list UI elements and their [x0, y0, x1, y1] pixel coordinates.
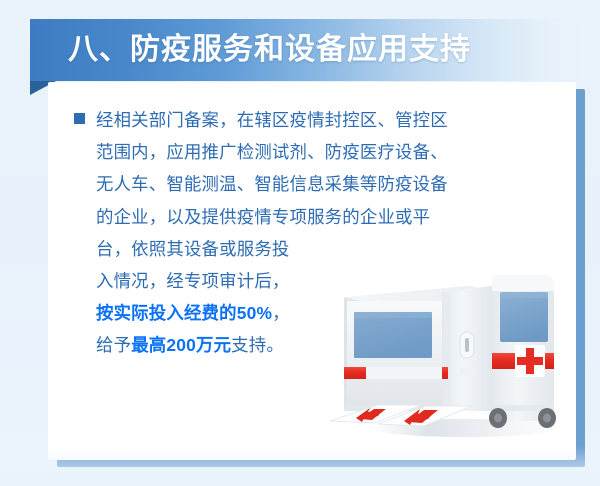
- bullet-square-icon: [74, 113, 85, 124]
- highlight-amount: 最高200万元: [131, 335, 231, 355]
- emphasis-2-trailing: 支持。: [231, 335, 284, 355]
- text-line-6: 入情况，经专项审计后，: [96, 265, 544, 297]
- text-line-5: 台，依照其设备或服务投: [96, 233, 544, 265]
- page-title: 八、防疫服务和设备应用支持: [68, 19, 471, 81]
- header-banner: 八、防疫服务和设备应用支持: [30, 19, 585, 81]
- text-line-2: 范围内，应用推广检测试剂、防疫医疗设备、: [96, 136, 544, 168]
- text-line-7: 按实际投入经费的50%，: [96, 297, 544, 329]
- emphasis-1-trailing: ，: [272, 303, 290, 323]
- content-card: 经相关部门备案，在辖区疫情封控区、管控区 范围内，应用推广检测试剂、防疫医疗设备…: [48, 82, 576, 460]
- text-line-1: 经相关部门备案，在辖区疫情封控区、管控区: [96, 104, 544, 136]
- policy-paragraph: 经相关部门备案，在辖区疫情封控区、管控区 范围内，应用推广检测试剂、防疫医疗设备…: [74, 104, 544, 362]
- poster-root: 八、防疫服务和设备应用支持: [0, 0, 600, 486]
- text-line-4: 的企业，以及提供疫情专项服务的企业或平: [96, 201, 544, 233]
- body-text-block: 经相关部门备案，在辖区疫情封控区、管控区 范围内，应用推广检测试剂、防疫医疗设备…: [74, 104, 544, 362]
- emphasis-2-leading: 给予: [96, 335, 131, 355]
- highlight-percentage: 按实际投入经费的50%: [96, 303, 272, 323]
- text-line-8: 给予最高200万元支持。: [96, 329, 544, 361]
- text-line-3: 无人车、智能测温、智能信息采集等防疫设备: [96, 168, 544, 200]
